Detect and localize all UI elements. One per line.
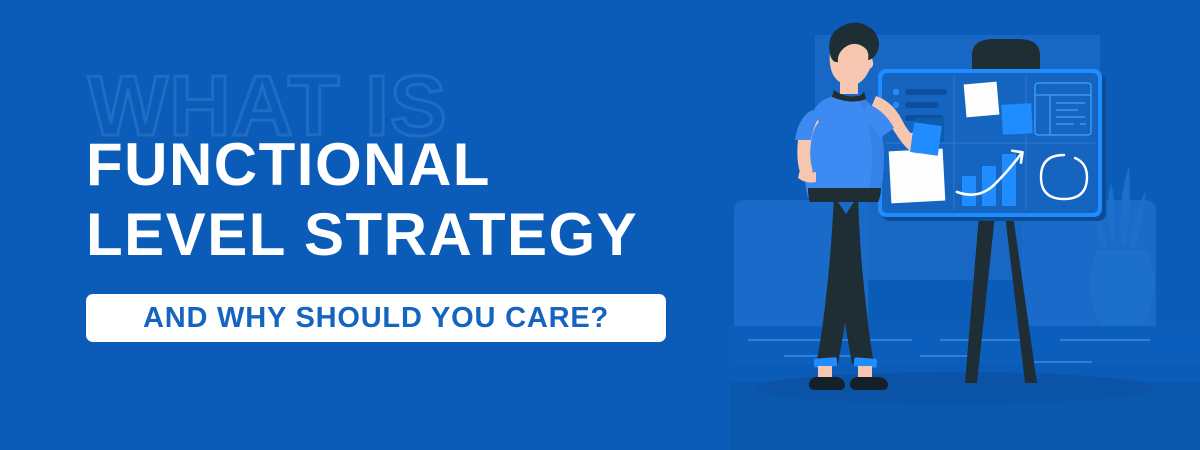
headline-line-2: LEVEL STRATEGY: [86, 200, 706, 270]
subtitle-text: AND WHY SHOULD YOU CARE?: [143, 302, 609, 335]
illustration-man-presenting: [730, 0, 1200, 450]
floor: [730, 326, 1200, 450]
page-title: FUNCTIONAL LEVEL STRATEGY: [86, 130, 706, 269]
banner: WHAT IS FUNCTIONAL LEVEL STRATEGY AND WH…: [0, 0, 1200, 450]
headline-text-block: WHAT IS FUNCTIONAL LEVEL STRATEGY AND WH…: [86, 68, 706, 358]
board-cell-large-note: [889, 149, 946, 204]
subtitle-box: AND WHY SHOULD YOU CARE?: [86, 294, 666, 342]
headline-line-1: FUNCTIONAL: [86, 130, 706, 200]
